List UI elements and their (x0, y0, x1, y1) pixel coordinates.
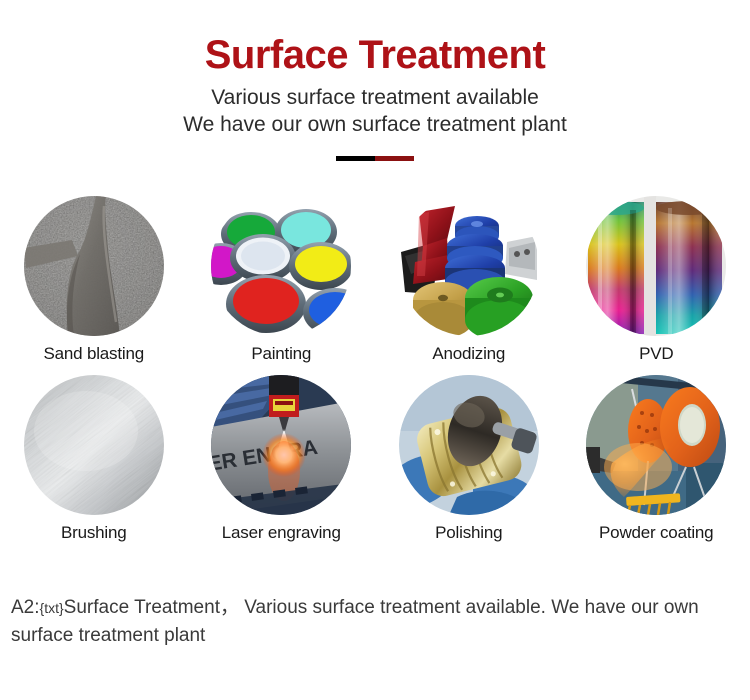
anodizing-thumb-icon (399, 196, 539, 336)
divider-right-segment (375, 156, 414, 161)
gallery-item-powder-coating[interactable]: Powder coating (563, 375, 750, 541)
gallery-item-label: Anodizing (432, 345, 505, 362)
subtitle: Various surface treatment available We h… (0, 76, 750, 139)
gallery-item-label: Powder coating (599, 524, 713, 541)
gallery-item-laser-engraving[interactable]: ER ENGRA (188, 375, 376, 541)
brushing-thumb-icon (24, 375, 164, 515)
painting-thumb-icon (211, 196, 351, 336)
gallery-item-brushing[interactable]: Brushing (0, 375, 188, 541)
description-token: {txt} (40, 600, 64, 616)
gallery-item-sand-blasting[interactable]: Sand blasting (0, 196, 188, 362)
gallery-item-painting[interactable]: Painting (188, 196, 376, 362)
header: Surface Treatment Various surface treatm… (0, 0, 750, 161)
description-body: Surface Treatment， Various surface treat… (11, 597, 699, 646)
description-text: A2:{txt}Surface Treatment， Various surfa… (11, 594, 739, 649)
gallery-item-label: Polishing (435, 524, 502, 541)
description-prefix: A2: (11, 597, 40, 618)
gallery-item-anodizing[interactable]: Anodizing (375, 196, 563, 362)
powder-coating-thumb-icon (586, 375, 726, 515)
gallery-item-label: Brushing (61, 524, 127, 541)
sand-blasting-thumb-icon (24, 196, 164, 336)
subtitle-line-2: We have our own surface treatment plant (0, 112, 750, 139)
divider-left-segment (336, 156, 375, 161)
gallery-item-pvd[interactable]: PVD (563, 196, 750, 362)
polishing-thumb-icon (399, 375, 539, 515)
gallery-item-label: Laser engraving (222, 524, 341, 541)
treatment-gallery: Sand blasting (0, 196, 750, 541)
gallery-row-2: Brushing (0, 375, 750, 541)
laser-engraving-thumb-icon: ER ENGRA (211, 375, 351, 515)
gallery-item-label: Painting (251, 345, 311, 362)
pvd-thumb-icon (586, 196, 726, 336)
page-title: Surface Treatment (0, 34, 750, 76)
gallery-item-label: Sand blasting (44, 345, 144, 362)
gallery-item-label: PVD (639, 345, 673, 362)
surface-treatment-banner: Surface Treatment Various surface treatm… (0, 0, 750, 700)
gallery-item-polishing[interactable]: Polishing (375, 375, 563, 541)
gallery-row-1: Sand blasting (0, 196, 750, 362)
subtitle-line-1: Various surface treatment available (0, 85, 750, 112)
title-divider (336, 156, 414, 161)
